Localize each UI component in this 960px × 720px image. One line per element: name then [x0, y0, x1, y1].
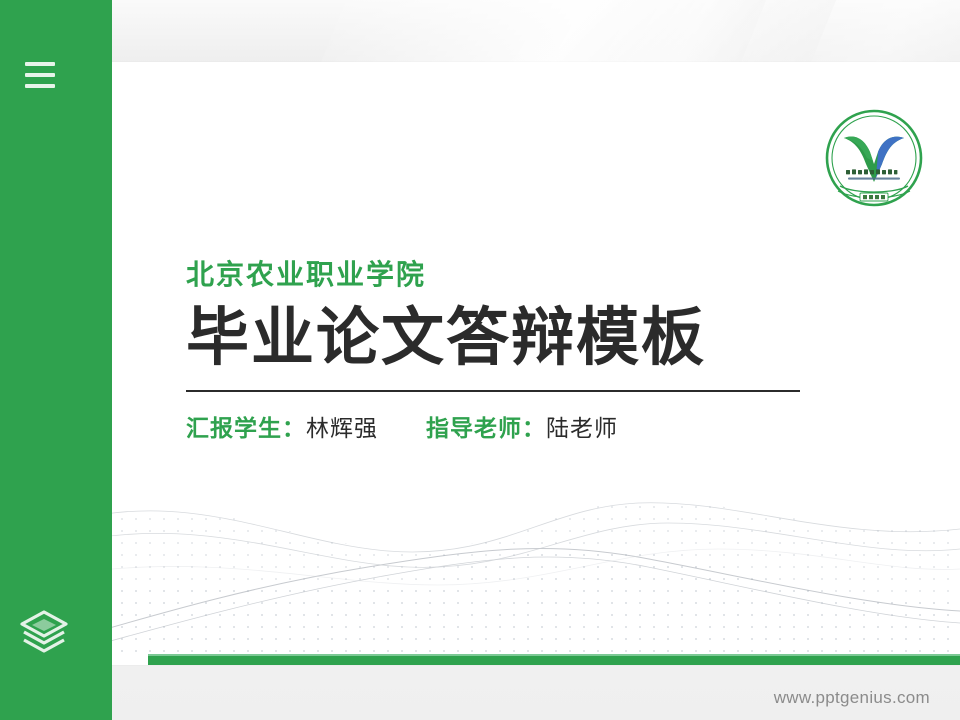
layers-stack-icon[interactable]: [18, 606, 70, 658]
presenter-student: 汇报学生：林辉强: [186, 416, 378, 444]
title-block: 北京农业职业学院 毕业论文答辩模板 汇报学生：林辉强 指导老师：陆老师: [186, 258, 886, 443]
hamburger-bar-1: [25, 62, 55, 66]
presenter-info-row: 汇报学生：林辉强 指导老师：陆老师: [186, 416, 886, 444]
hamburger-bar-2: [25, 73, 55, 77]
slide-canvas: 北京农业职业学院 毕业论文答辩模板 汇报学生：林辉强 指导老师：陆老师: [78, 62, 960, 665]
advisor-teacher: 指导老师：陆老师: [426, 416, 618, 444]
advisor-teacher-label: 指导老师：: [426, 416, 546, 442]
college-seal-logo: [824, 108, 924, 208]
presenter-student-value: 林辉强: [306, 416, 378, 442]
presenter-student-label: 汇报学生：: [186, 416, 306, 442]
dotted-mesh-decoration: [78, 445, 960, 655]
page-title: 毕业论文答辩模板: [186, 304, 886, 372]
advisor-teacher-value: 陆老师: [546, 416, 618, 442]
title-divider-rule: [186, 390, 800, 392]
slide-bottom-bar: [148, 656, 960, 665]
presentation-viewer: 北京农业职业学院 毕业论文答辩模板 汇报学生：林辉强 指导老师：陆老师: [0, 0, 960, 720]
hamburger-menu-icon[interactable]: [25, 62, 55, 88]
college-name: 北京农业职业学院: [186, 258, 886, 292]
left-rail-top-notch: [0, 0, 78, 62]
hamburger-bar-3: [25, 84, 55, 88]
site-watermark: www.pptgenius.com: [774, 688, 930, 708]
